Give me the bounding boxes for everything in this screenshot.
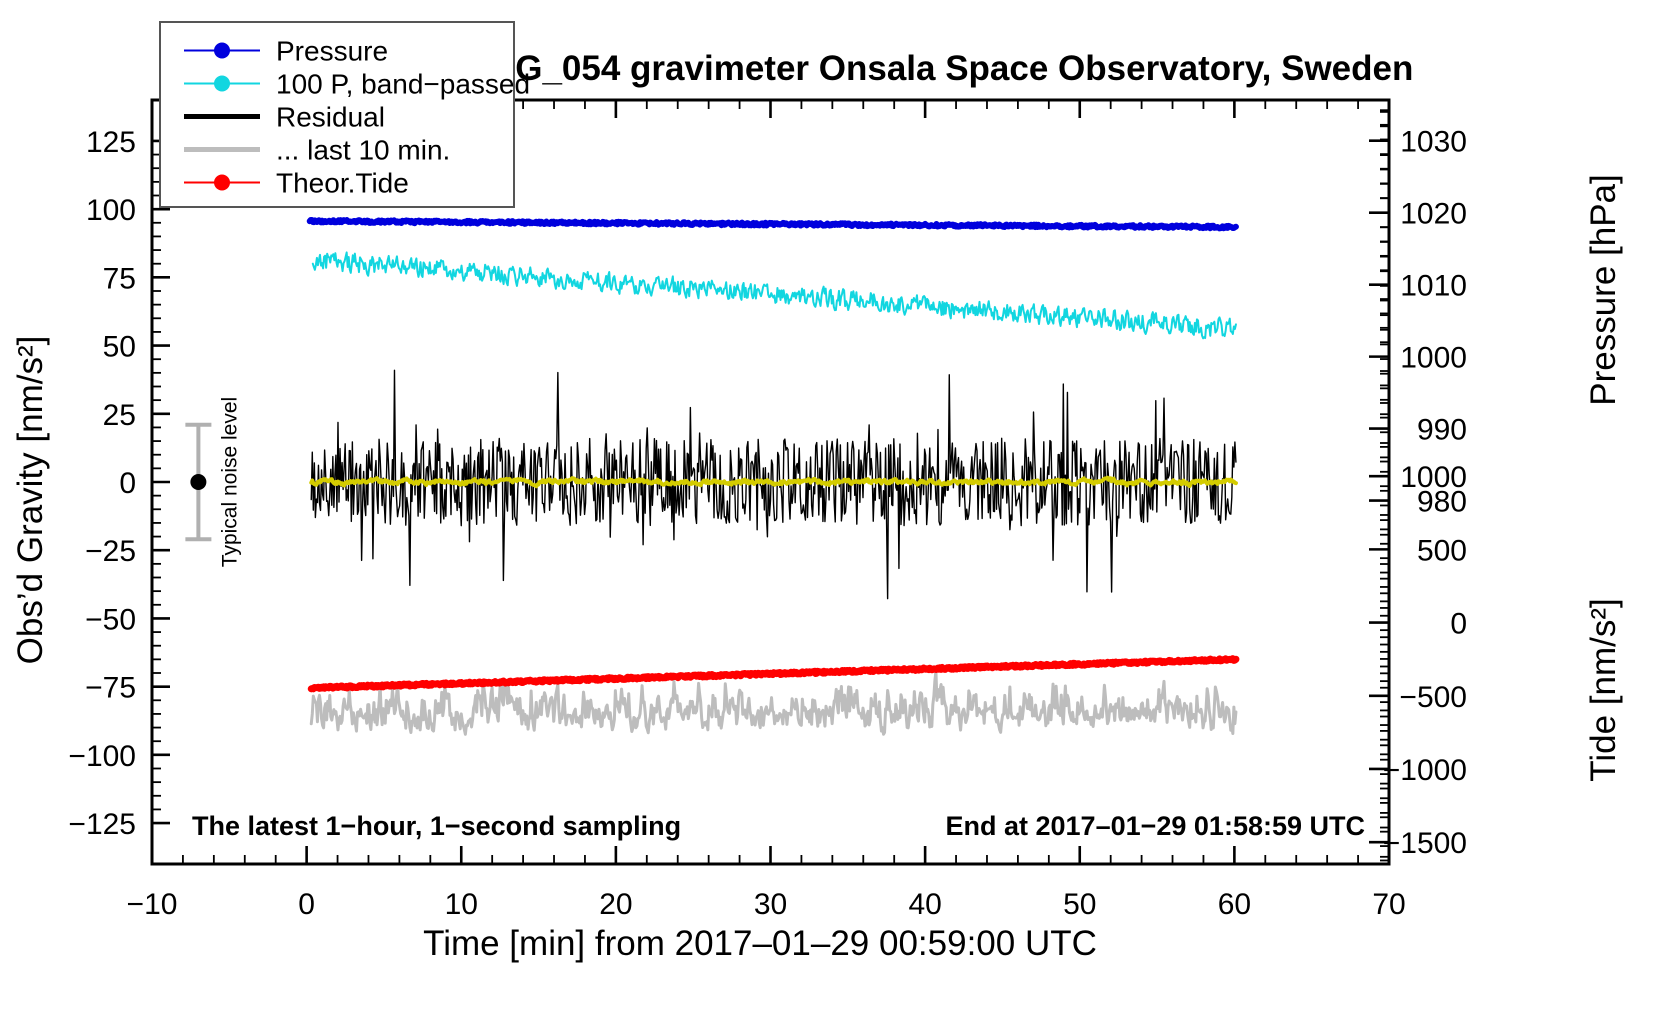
y-tick-label: 50	[103, 331, 136, 364]
legend-swatch-marker	[214, 175, 230, 191]
y-tick-label: 100	[86, 194, 136, 227]
right-tick-label-tide: 1000	[1400, 461, 1467, 494]
x-tick-label: −10	[127, 888, 178, 921]
x-tick-label: 60	[1218, 888, 1251, 921]
right-tick-label-pressure: 1010	[1400, 270, 1467, 303]
y-tick-label: −50	[85, 603, 136, 636]
right-tick-label-tide: −1500	[1383, 827, 1467, 860]
chart-title: SCG_054 gravimeter Onsala Space Observat…	[467, 49, 1414, 88]
y-tick-label: 75	[103, 262, 136, 295]
x-axis-title: Time [min] from 2017–01–29 00:59:00 UTC	[423, 924, 1097, 963]
y-tick-label: 125	[86, 126, 136, 159]
right-tick-label-pressure: 1020	[1400, 198, 1467, 231]
x-tick-label: 0	[298, 888, 315, 921]
noise-bar-center-dot	[190, 474, 206, 490]
noise-level-label: Typical noise level	[218, 397, 241, 567]
right-tick-label-tide: 0	[1450, 608, 1467, 641]
right-tick-label-pressure: 1000	[1400, 342, 1467, 375]
y-axis-title-tide: Tide [nm/s²]	[1584, 598, 1623, 781]
legend-label: 100 P, band−passed	[276, 69, 530, 100]
caption-left: The latest 1−hour, 1−second sampling	[192, 811, 681, 841]
legend-swatch-marker	[214, 43, 230, 59]
right-tick-label-tide: −500	[1399, 681, 1467, 714]
x-tick-label: 10	[445, 888, 478, 921]
legend-label: Pressure	[276, 36, 388, 67]
legend-swatch-marker	[214, 76, 230, 92]
x-tick-label: 20	[599, 888, 632, 921]
legend-label: Residual	[276, 102, 385, 133]
x-tick-label: 70	[1372, 888, 1405, 921]
right-tick-label-pressure: 1030	[1400, 126, 1467, 159]
legend[interactable]: Pressure100 P, band−passedResidual... la…	[160, 22, 530, 207]
x-tick-label: 40	[908, 888, 941, 921]
x-tick-label: 30	[754, 888, 787, 921]
y-tick-label: −75	[85, 672, 136, 705]
legend-label: Theor.Tide	[276, 168, 409, 199]
caption-right: End at 2017–01−29 01:58:59 UTC	[946, 811, 1366, 841]
right-tick-label-tide: 500	[1417, 534, 1467, 567]
y-tick-label: −25	[85, 535, 136, 568]
right-tick-label-tide: −1000	[1383, 754, 1467, 787]
figure-canvas: −10010203040506070−125−100−75−50−2502550…	[0, 0, 1660, 1020]
legend-label: ... last 10 min.	[276, 135, 450, 166]
y-tick-label: −100	[68, 740, 136, 773]
y-axis-title-pressure: Pressure [hPa]	[1584, 174, 1623, 406]
y-axis-title-left: Obs’d Gravity [nm/s²]	[11, 336, 50, 665]
y-tick-label: −125	[68, 808, 136, 841]
gravimeter-plot: −10010203040506070−125−100−75−50−2502550…	[0, 0, 1660, 1020]
x-tick-label: 50	[1063, 888, 1096, 921]
y-tick-label: 0	[119, 467, 136, 500]
y-tick-label: 25	[103, 399, 136, 432]
right-tick-label-pressure: 990	[1417, 414, 1467, 447]
